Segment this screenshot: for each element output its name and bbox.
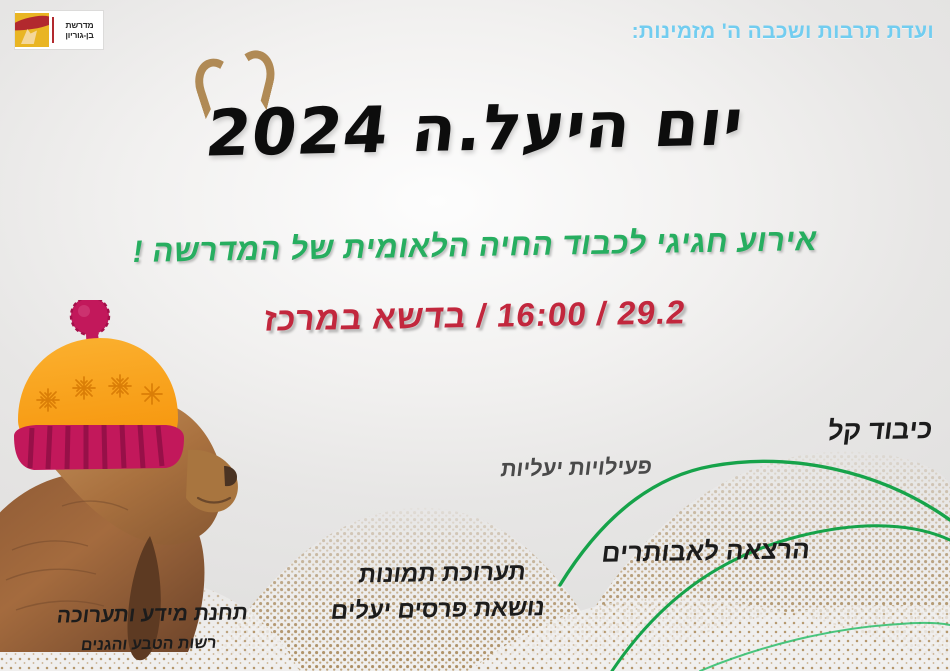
feature-info-station-sublabel: רשות הטבע והגנים — [19, 628, 278, 662]
event-poster: מדרשת בן-גוריון ועדת תרבות ושכבה ה' מזמי… — [0, 0, 950, 671]
feature-refreshments: כיבוד קל — [826, 414, 934, 447]
feature-photo-exhibition: תערוכת תמונות נושאת פרסים יעלים — [325, 554, 554, 630]
feature-lecture: הרצאה לאבותרים — [600, 534, 812, 569]
feature-info-station-label: תחנת מידע ותערוכה — [55, 601, 249, 627]
feature-activities: פעילויות יעליות — [499, 454, 653, 483]
feature-info-station: תחנת מידע ותערוכה רשות הטבע והגנים — [19, 598, 282, 662]
